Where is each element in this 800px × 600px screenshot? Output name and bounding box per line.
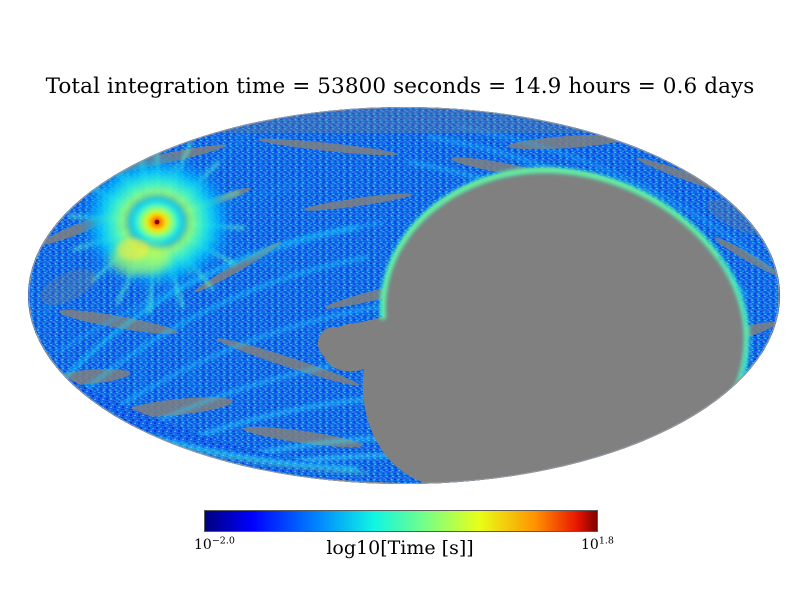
page-title: Total integration time = 53800 seconds =… — [0, 74, 800, 100]
colorbar-max-tick: 101.8 — [581, 537, 614, 553]
figure-canvas: Total integration time = 53800 seconds =… — [0, 0, 800, 600]
sky-map — [28, 107, 780, 484]
colorbar-gradient[interactable] — [204, 510, 598, 532]
colorbar-max-mantissa: 10 — [581, 537, 599, 553]
colorbar: 10−2.0 log10[Time [s]] 101.8 — [204, 510, 600, 566]
colorbar-max-exponent: 1.8 — [599, 535, 614, 546]
mollweide-projection-plot — [28, 107, 780, 484]
skymap-content — [28, 107, 780, 484]
colorbar-label: log10[Time [s]] — [204, 537, 596, 559]
